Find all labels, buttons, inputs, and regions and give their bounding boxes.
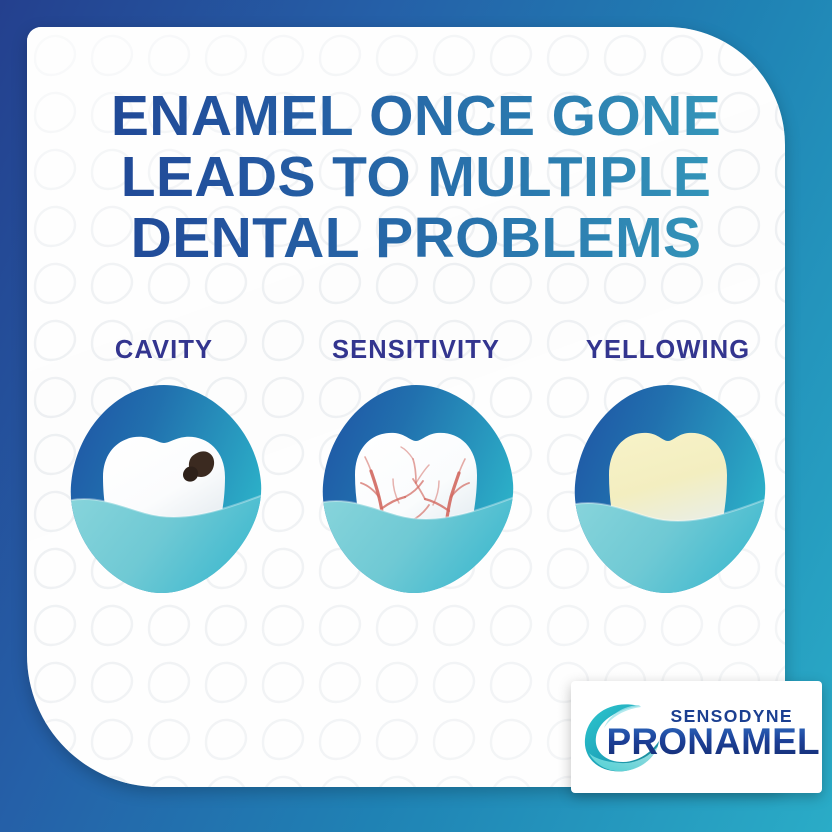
tooth-with-nerves-icon: [313, 379, 520, 599]
problem-label-yellowing: YELLOWING: [586, 336, 750, 365]
headline-line-3: DENTAL PROBLEMS: [0, 208, 832, 269]
headline: ENAMEL ONCE GONE LEADS TO MULTIPLE DENTA…: [0, 86, 832, 269]
logo-product-text: PRONAMEL: [607, 721, 820, 763]
problem-label-cavity: CAVITY: [115, 336, 213, 365]
problem-panels: CAVITY: [48, 336, 784, 599]
yellow-tooth-icon: [565, 379, 772, 599]
headline-line-1: ENAMEL ONCE GONE: [0, 86, 832, 147]
problem-panel-yellowing: YELLOWING: [552, 336, 784, 599]
tooth-with-cavity-icon: [61, 379, 268, 599]
problem-label-sensitivity: SENSITIVITY: [332, 336, 500, 365]
brand-logo: SENSODYNE PRONAMEL: [571, 681, 822, 793]
problem-panel-sensitivity: SENSITIVITY: [300, 336, 532, 599]
problem-panel-cavity: CAVITY: [48, 336, 280, 599]
advertisement-poster: ENAMEL ONCE GONE LEADS TO MULTIPLE DENTA…: [0, 0, 832, 832]
headline-line-2: LEADS TO MULTIPLE: [0, 147, 832, 208]
